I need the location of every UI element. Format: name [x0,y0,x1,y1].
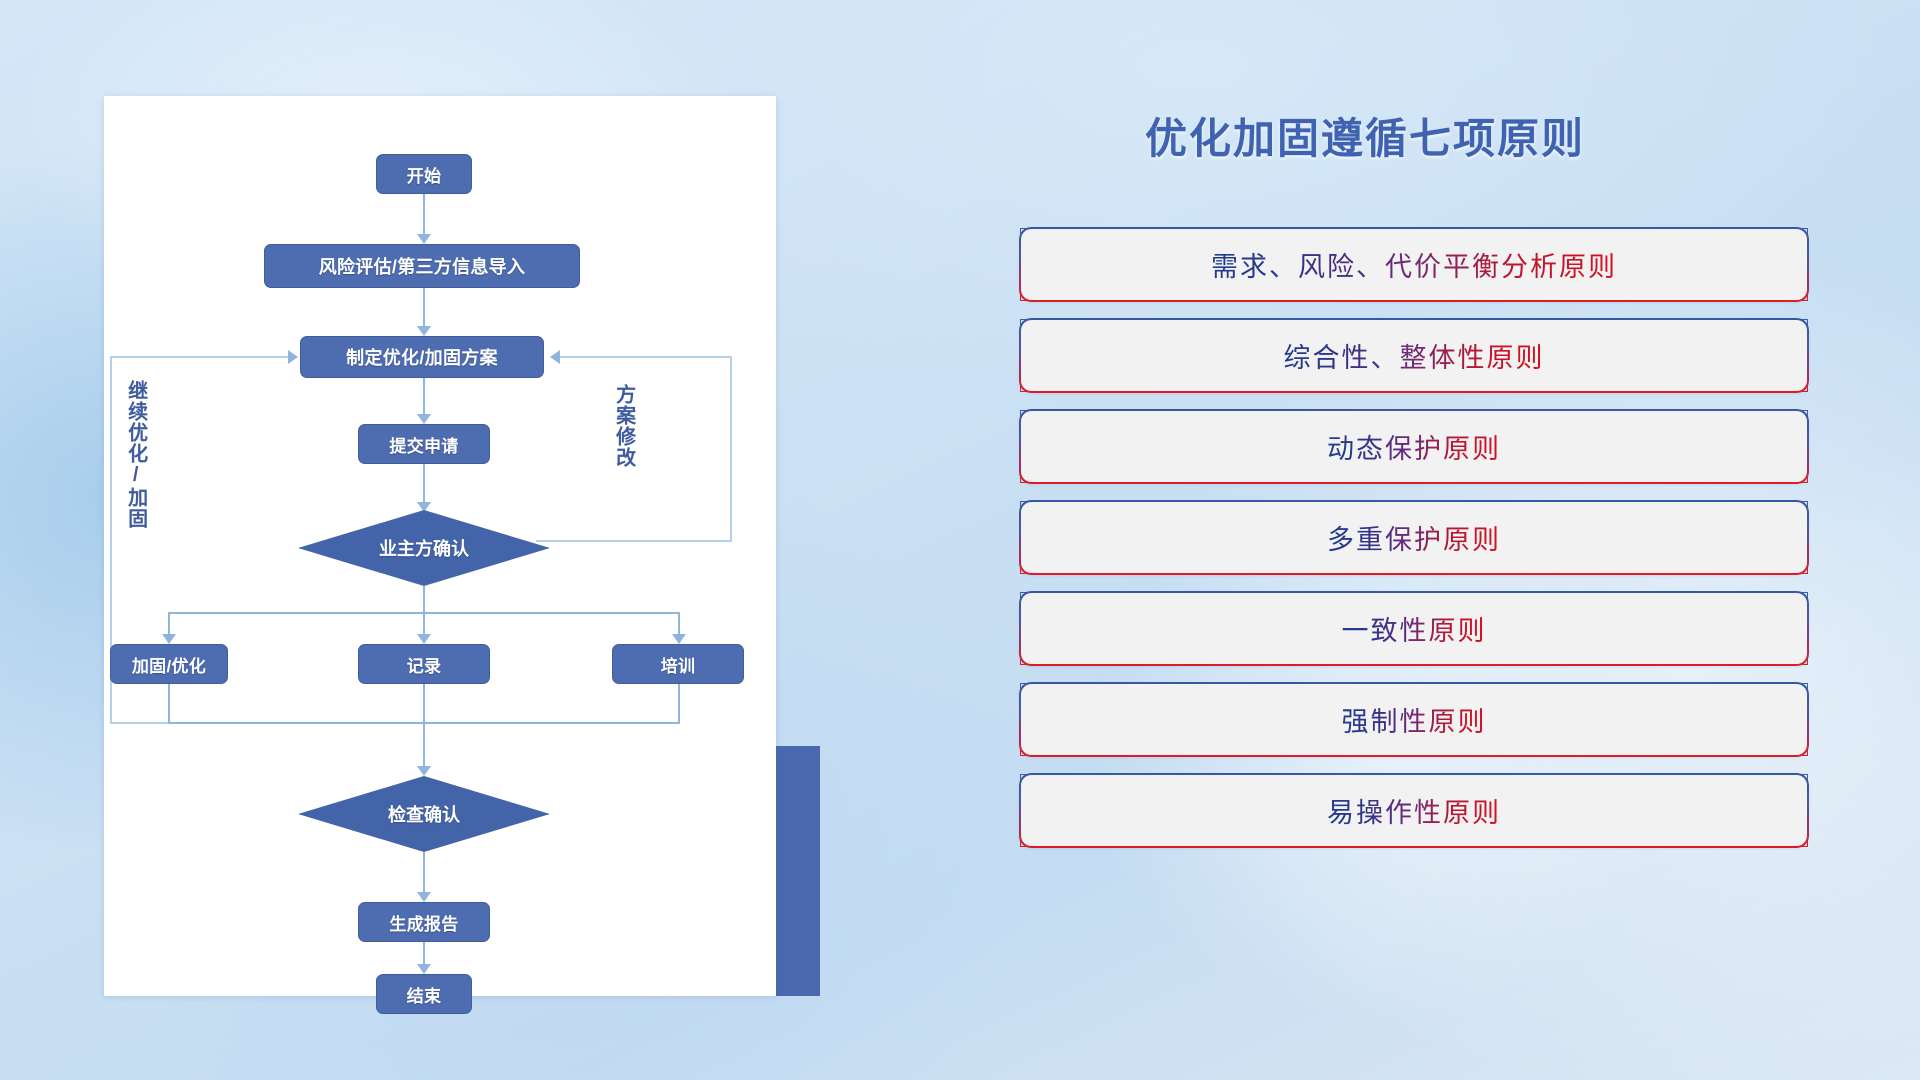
principle-card-label: 动态保护原则 [1327,427,1501,466]
arrow-right-icon [288,350,298,364]
principle-card[interactable]: 综合性、整体性原则 [1020,319,1808,392]
arrow-down-icon [672,634,686,644]
flow-node-label: 开始 [407,162,442,187]
connector-merge-right [678,684,680,724]
page-title: 优化加固遵循七项原则 [1020,105,1710,166]
flow-node-record[interactable]: 记录 [358,644,490,684]
flowchart-panel: 开始 风险评估/第三方信息导入 制定优化/加固方案 继续优化/加固 方案修改 提… [104,96,776,996]
flow-node-end[interactable]: 结束 [376,974,472,1014]
flow-node-label: 生成报告 [389,910,458,935]
flow-node-label: 加固/优化 [132,652,206,677]
flow-node-label: 结束 [407,982,442,1007]
flow-node-reinforce[interactable]: 加固/优化 [110,644,228,684]
principle-card[interactable]: 动态保护原则 [1020,410,1808,483]
flow-node-label: 检查确认 [388,801,460,827]
loop-left-label: 继续优化/加固 [124,380,146,529]
principle-card-label: 易操作性原则 [1327,791,1501,830]
flow-node-label: 风险评估/第三方信息导入 [319,253,526,279]
loop-right-label: 方案修改 [612,384,634,468]
flow-decision-check[interactable]: 检查确认 [298,776,550,852]
flow-node-label: 培训 [661,652,696,677]
arrow-down-icon [417,234,431,244]
arrow-down-icon [417,766,431,776]
loop-right-top-segment [560,356,732,358]
principles-section: 优化加固遵循七项原则 需求、风险、代价平衡分析原则 综合性、整体性原则 动态保护… [1020,0,1840,1080]
flow-node-label: 业主方确认 [379,535,469,561]
principle-card[interactable]: 强制性原则 [1020,683,1808,756]
loop-right-bottom-segment [536,540,732,542]
flow-node-start[interactable]: 开始 [376,154,472,194]
principle-card[interactable]: 多重保护原则 [1020,501,1808,574]
arrow-down-icon [417,634,431,644]
arrow-down-icon [162,634,176,644]
arrow-down-icon [417,326,431,336]
principles-card-list: 需求、风险、代价平衡分析原则 综合性、整体性原则 动态保护原则 多重保护原则 一… [1020,228,1810,865]
principle-card[interactable]: 易操作性原则 [1020,774,1808,847]
principle-card[interactable]: 一致性原则 [1020,592,1808,665]
principle-card-label: 强制性原则 [1342,700,1487,739]
flow-node-submit[interactable]: 提交申请 [358,424,490,464]
arrow-down-icon [417,414,431,424]
flow-node-risk-assessment[interactable]: 风险评估/第三方信息导入 [264,244,580,288]
flow-node-training[interactable]: 培训 [612,644,744,684]
arrow-down-icon [417,892,431,902]
connector-record-check [423,684,425,772]
principle-card-label: 一致性原则 [1342,609,1487,648]
flowchart-stage: 开始 风险评估/第三方信息导入 制定优化/加固方案 继续优化/加固 方案修改 提… [104,96,776,996]
arrow-left-icon [550,350,560,364]
loop-left-top-segment [110,356,288,358]
flow-node-label: 提交申请 [389,432,458,457]
principle-card-label: 综合性、整体性原则 [1284,336,1545,375]
loop-right-vertical [730,356,732,542]
arrow-down-icon [417,964,431,974]
principle-card[interactable]: 需求、风险、代价平衡分析原则 [1020,228,1808,301]
connector-owner-fanout [423,586,425,614]
flow-node-report[interactable]: 生成报告 [358,902,490,942]
flow-decision-owner-confirm[interactable]: 业主方确认 [298,510,550,586]
principle-card-label: 需求、风险、代价平衡分析原则 [1211,245,1617,284]
flow-node-label: 记录 [407,652,442,677]
connector-merge-left [168,684,170,724]
flow-node-plan[interactable]: 制定优化/加固方案 [300,336,544,378]
principle-card-label: 多重保护原则 [1327,518,1501,557]
flow-node-label: 制定优化/加固方案 [346,344,498,370]
